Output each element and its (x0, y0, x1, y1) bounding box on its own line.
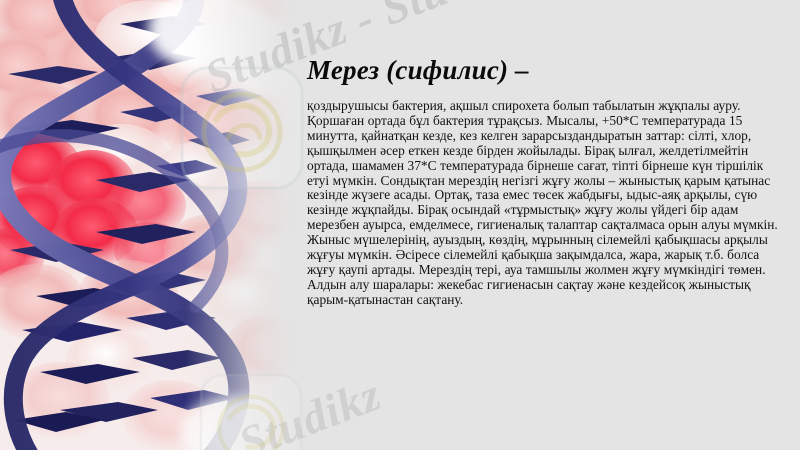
dna-double-helix-illustration (0, 0, 300, 450)
slide-body-text: қоздырушысы бактерия, ақшыл спирохета бо… (307, 99, 781, 308)
presentation-slide: Studikz - Studikz Studikz Мерез (сифилис… (0, 0, 800, 450)
slide-title: Мерез (сифилис) – (307, 55, 787, 86)
